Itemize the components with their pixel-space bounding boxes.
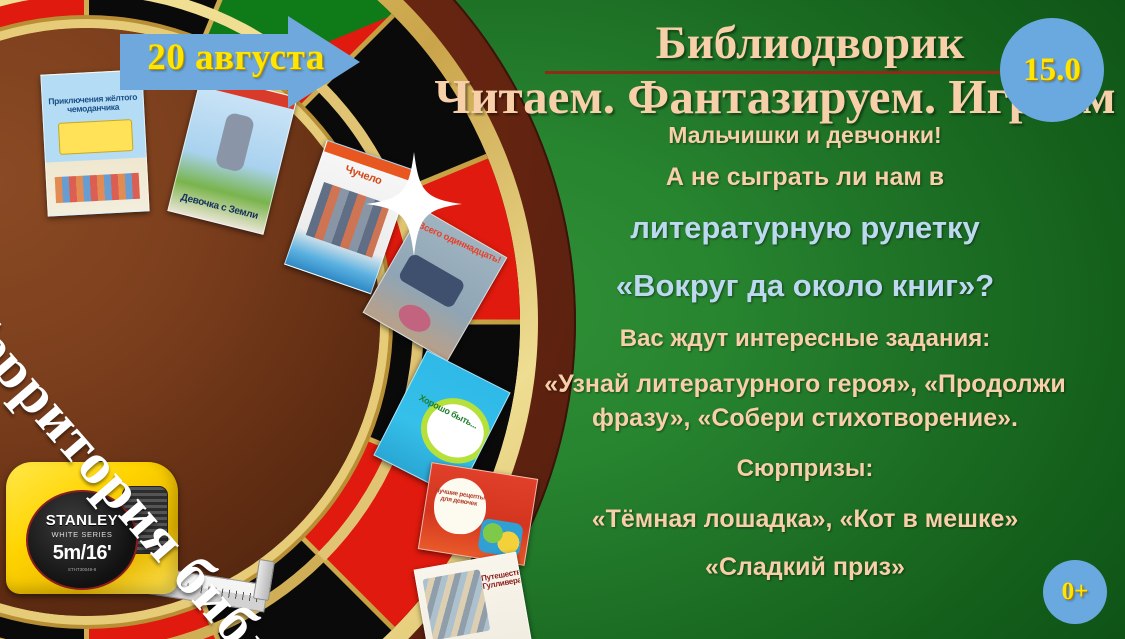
poster-body-5: «Сладкий приз» — [495, 553, 1115, 582]
date-arrow-banner: 20 августа — [120, 16, 360, 108]
poster-canvas: Приключения жёлтого чемоданчика Девочка … — [0, 0, 1125, 639]
book-art-cushion — [394, 299, 435, 337]
badge-age-rating: 0+ — [1043, 560, 1107, 624]
poster-title-line1: Библиодворик — [545, 20, 1075, 74]
badge-version: 15.0 — [1000, 18, 1104, 122]
book-art-figure — [397, 252, 466, 309]
poster-subtitle-2: А не сыграть ли нам в — [510, 163, 1100, 192]
date-label: 20 августа — [138, 36, 334, 79]
book-art-figure — [215, 112, 256, 173]
sparkle-icon — [366, 152, 462, 256]
poster-highlight-1: литературную рулетку — [505, 210, 1105, 246]
tape-length: 5m/16' — [28, 542, 136, 565]
poster-body-3: Сюрпризы: — [510, 455, 1100, 483]
tape-code: STHT30049-8 — [28, 567, 136, 572]
book-title: Девочка с Земли — [171, 191, 268, 224]
poster-body-2: «Узнай литературного героя», «Продолжи ф… — [495, 368, 1115, 436]
book-art-figures — [55, 173, 140, 203]
poster-highlight-2: «Вокруг да около книг»? — [505, 268, 1105, 304]
poster-subtitle-1: Мальчишки и девчонки! — [510, 122, 1100, 149]
poster-body-4: «Тёмная лошадка», «Кот в мешке» — [495, 505, 1115, 534]
book-art-suitcase — [58, 119, 134, 155]
poster-body-1: Вас ждут интересные задания: — [510, 325, 1100, 353]
